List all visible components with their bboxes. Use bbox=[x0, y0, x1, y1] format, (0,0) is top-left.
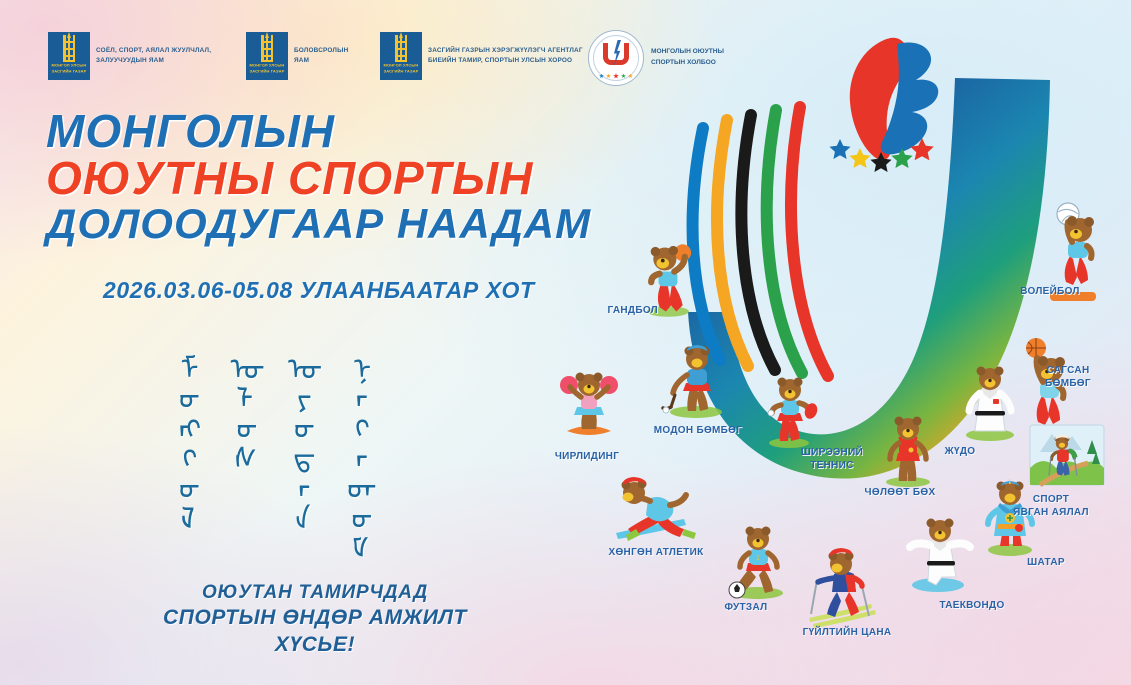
sponsor-bar: МОНГОЛ УЛСЫН ЗАСГИЙН ГАЗАР СОЁЛ, СПОРТ, … bbox=[0, 32, 1131, 90]
mascot-label-chess: ШАТАР bbox=[1022, 557, 1070, 570]
mascot-label-wrestling: ЧӨЛӨӨТ БӨХ bbox=[862, 487, 938, 500]
flag-caption: МОНГОЛ УЛСЫН ЗАСГИЙН ГАЗАР bbox=[377, 63, 424, 75]
government-flag-emblem: МОНГОЛ УЛСЫН ЗАСГИЙН ГАЗАР bbox=[380, 32, 422, 80]
date-and-venue: 2026.03.06-05.08 УЛААНБААТАР ХОТ bbox=[103, 277, 535, 304]
sponsor-name: БОЛОВСРОЛЫН ЯАМ bbox=[294, 46, 348, 65]
mongol-script-column: ᠮᠣᠩᠭᠣᠯ bbox=[165, 352, 197, 522]
student-sports-association-logo: МОНГОЛЫН ОЮУТНЫ СПОРТЫН ХОЛБОО bbox=[588, 30, 724, 86]
mascot-label-handball: ГАНДБОЛ bbox=[602, 305, 658, 318]
mascot-label-futsal: ФУТЗАЛ bbox=[720, 602, 772, 615]
mascot-judo bbox=[966, 367, 1014, 442]
association-name: МОНГОЛЫН ОЮУТНЫ СПОРТЫН ХОЛБОО bbox=[651, 47, 724, 68]
title-line-3: ДОЛООДУГААР НААДАМ bbox=[46, 202, 591, 247]
soyombo-icon bbox=[260, 35, 274, 62]
mascot-label-hiking: СПОРТ ЯВГАН АЯЛАЛ bbox=[1012, 494, 1090, 519]
government-flag-emblem: МОНГОЛ УЛСЫН ЗАСГИЙН ГАЗАР bbox=[246, 32, 288, 80]
emblem-u-swoosh bbox=[688, 62, 1131, 479]
mascot-hiking bbox=[1030, 425, 1104, 485]
poster-canvas: МОНГОЛ УЛСЫН ЗАСГИЙН ГАЗАР СОЁЛ, СПОРТ, … bbox=[0, 0, 1131, 685]
poster-headline: МОНГОЛЫН ОЮУТНЫ СПОРТЫН ДОЛООДУГААР НААД… bbox=[46, 107, 591, 246]
mascot-table-tennis bbox=[768, 378, 819, 449]
slogan-line-1: ОЮУТАН ТАМИРЧДАД bbox=[120, 581, 510, 605]
mascot-cross-country-ski bbox=[809, 548, 876, 628]
mascot-label-ski: ГҮЙЛТИЙН ЦАНА bbox=[800, 627, 894, 640]
title-line-1: МОНГОЛЫН bbox=[46, 107, 591, 156]
mongol-script-column: ᠤᠯᠤᠰ bbox=[223, 352, 255, 522]
mascot-label-cheerleading: ЧИРЛИДИНГ bbox=[551, 451, 623, 464]
mongolian-script-block: ᠮᠣᠩᠭᠣᠯ ᠤᠯᠤᠰ ᠣᠶᠤᠲᠠᠨ ᠨᠠᠭᠠᠳᠤᠮ bbox=[165, 352, 369, 522]
soyombo-icon bbox=[394, 35, 408, 62]
sponsor-ministry-culture-sport: МОНГОЛ УЛСЫН ЗАСГИЙН ГАЗАР СОЁЛ, СПОРТ, … bbox=[48, 32, 211, 80]
mascot-field-hockey bbox=[663, 345, 722, 418]
sponsor-name: ЗАСГИЙН ГАЗРЫН ХЭРЭГЖҮҮЛЭГЧ АГЕНТЛАГ БИЕ… bbox=[428, 46, 583, 65]
mascot-label-taekwondo: ТАЕКВОНДО bbox=[936, 600, 1008, 613]
mascot-futsal: 1 bbox=[729, 527, 783, 600]
association-seal-icon bbox=[588, 30, 644, 86]
mascot-label-table-tennis: ШИРЭЭНИЙ ТЕННИС bbox=[798, 447, 866, 472]
sponsor-national-sports-committee: МОНГОЛ УЛСЫН ЗАСГИЙН ГАЗАР ЗАСГИЙН ГАЗРЫ… bbox=[380, 32, 583, 80]
title-line-2: ОЮУТНЫ СПОРТЫН bbox=[46, 154, 591, 203]
seal-stars bbox=[599, 73, 633, 79]
government-flag-emblem: МОНГОЛ УЛСЫН ЗАСГИЙН ГАЗАР bbox=[48, 32, 90, 80]
mascot-label-field-hockey: МОДОН БӨМБӨГ bbox=[650, 425, 746, 438]
mascot-taekwondo bbox=[910, 519, 970, 593]
mongol-script-column: ᠣᠶᠤᠲᠠᠨ bbox=[280, 352, 312, 522]
slogan-line-2: СПОРТЫН ӨНДӨР АМЖИЛТ ХҮСЬЕ! bbox=[120, 605, 510, 659]
mascot-label-athletics: ХӨНГӨН АТЛЕТИК bbox=[608, 547, 704, 560]
poster-slogan: ОЮУТАН ТАМИРЧДАД СПОРТЫН ӨНДӨР АМЖИЛТ ХҮ… bbox=[120, 581, 510, 659]
ribbon-arcs bbox=[693, 107, 828, 376]
sponsor-name: СОЁЛ, СПОРТ, АЯЛАЛ ЖУУЛЧЛАЛ, ЗАЛУУЧУУДЫН… bbox=[96, 46, 211, 65]
mascot-label-judo: ЖҮДО bbox=[938, 446, 982, 459]
mascot-freestyle-wrestling bbox=[886, 417, 930, 488]
mascot-label-volleyball: ВОЛЕЙБОЛ bbox=[1018, 286, 1082, 299]
sponsor-ministry-education: МОНГОЛ УЛСЫН ЗАСГИЙН ГАЗАР БОЛОВСРОЛЫН Я… bbox=[246, 32, 348, 80]
mascot-label-basketball: САГСАН БӨМБӨГ bbox=[1038, 365, 1098, 390]
flag-caption: МОНГОЛ УЛСЫН ЗАСГИЙН ГАЗАР bbox=[45, 63, 92, 75]
flag-caption: МОНГОЛ УЛСЫН ЗАСГИЙН ГАЗАР bbox=[243, 63, 290, 75]
emblem-stars bbox=[829, 138, 933, 172]
soyombo-icon bbox=[62, 35, 76, 62]
mongol-script-column: ᠨᠠᠭᠠᠳᠤᠮ bbox=[338, 352, 370, 522]
svg-text:1: 1 bbox=[756, 555, 760, 562]
mascot-cheerleading bbox=[560, 373, 618, 436]
mascot-athletics bbox=[616, 477, 696, 541]
